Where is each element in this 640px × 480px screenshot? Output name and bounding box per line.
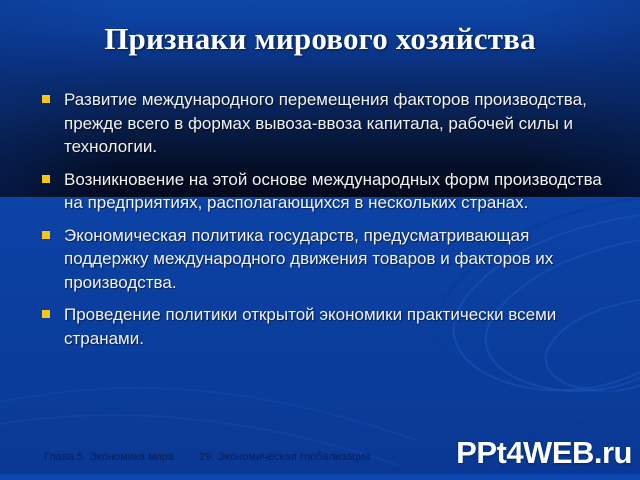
list-item-text: Экономическая политика государств, преду… — [64, 224, 602, 295]
footer-chapter-label: Глава 5. Экономика мира — [44, 450, 174, 464]
bottom-edge-strip — [0, 474, 640, 480]
list-item: Возникновение на этой основе международн… — [42, 168, 602, 215]
bullet-list: Развитие международного перемещения факт… — [42, 88, 602, 359]
list-item-text: Проведение политики открытой экономики п… — [64, 303, 602, 350]
square-bullet-icon — [42, 175, 50, 183]
site-watermark: PPt4WEB.ru — [456, 436, 632, 470]
list-item: Экономическая политика государств, преду… — [42, 224, 602, 295]
list-item: Проведение политики открытой экономики п… — [42, 303, 602, 350]
slide-title: Признаки мирового хозяйства — [0, 20, 640, 58]
square-bullet-icon — [42, 231, 50, 239]
square-bullet-icon — [42, 310, 50, 318]
square-bullet-icon — [42, 95, 50, 103]
footer-section-label: 29. Экономическая глобализация — [199, 450, 370, 464]
list-item: Развитие международного перемещения факт… — [42, 88, 602, 159]
list-item-text: Возникновение на этой основе международн… — [64, 168, 602, 215]
list-item-text: Развитие международного перемещения факт… — [64, 88, 602, 159]
presentation-slide: Признаки мирового хозяйства Развитие меж… — [0, 0, 640, 480]
